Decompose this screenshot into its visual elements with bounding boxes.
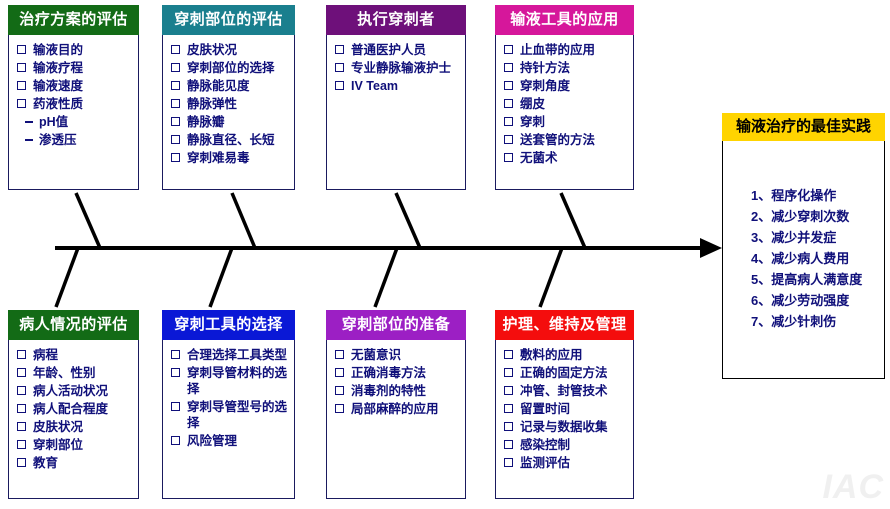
checkbox-icon bbox=[504, 350, 513, 359]
cause-item-label: 无菌术 bbox=[520, 151, 558, 165]
cause-item-label: 静脉直径、长短 bbox=[187, 133, 275, 147]
cause-box-header: 治疗方案的评估 bbox=[8, 5, 139, 35]
cause-box-body: 合理选择工具类型穿刺导管材料的选择穿刺导管型号的选择风险管理 bbox=[162, 340, 295, 499]
cause-item: 皮肤状况 bbox=[171, 42, 290, 58]
cause-item: 送套管的方法 bbox=[504, 132, 629, 148]
cause-item-label: 绷皮 bbox=[520, 97, 545, 111]
cause-box-treatment-plan-assessment[interactable]: 治疗方案的评估 输液目的输液疗程输液速度药液性质pH值渗透压 bbox=[8, 5, 139, 190]
cause-item: 病人配合程度 bbox=[17, 401, 134, 417]
cause-box-header: 护理、维持及管理 bbox=[495, 310, 634, 340]
checkbox-icon bbox=[171, 350, 180, 359]
cause-item: 穿刺难易毒 bbox=[171, 150, 290, 166]
cause-item-label: 静脉能见度 bbox=[187, 79, 250, 93]
effect-item: 1、程序化操作 bbox=[751, 185, 884, 206]
cause-item: 冲管、封管技术 bbox=[504, 383, 629, 399]
cause-item: 静脉瓣 bbox=[171, 114, 290, 130]
rib-bottom-2 bbox=[210, 248, 232, 307]
cause-item-label: IV Team bbox=[351, 79, 398, 93]
cause-item-list: 输液目的输液疗程输液速度药液性质pH值渗透压 bbox=[17, 42, 134, 148]
checkbox-icon bbox=[17, 81, 26, 90]
checkbox-icon bbox=[335, 404, 344, 413]
effect-item-list: 1、程序化操作2、减少穿刺次数3、减少并发症4、减少病人费用5、提高病人满意度6… bbox=[751, 185, 884, 332]
cause-box-infusion-tool-application[interactable]: 输液工具的应用 止血带的应用持针方法穿刺角度绷皮穿刺送套管的方法无菌术 bbox=[495, 5, 634, 190]
checkbox-icon bbox=[504, 81, 513, 90]
cause-item-label: 敷料的应用 bbox=[520, 348, 583, 362]
checkbox-icon bbox=[17, 45, 26, 54]
cause-item-label: 专业静脉输液护士 bbox=[351, 61, 451, 75]
checkbox-icon bbox=[171, 81, 180, 90]
cause-box-body: 普通医护人员专业静脉输液护士IV Team bbox=[326, 35, 466, 190]
cause-item-label: 病程 bbox=[33, 348, 58, 362]
effect-item: 3、减少并发症 bbox=[751, 227, 884, 248]
checkbox-icon bbox=[171, 135, 180, 144]
checkbox-icon bbox=[335, 386, 344, 395]
cause-item: 皮肤状况 bbox=[17, 419, 134, 435]
effect-item: 5、提高病人满意度 bbox=[751, 269, 884, 290]
cause-item: 病人活动状况 bbox=[17, 383, 134, 399]
cause-item-label: 输液速度 bbox=[33, 79, 83, 93]
cause-box-body: 病程年龄、性别病人活动状况病人配合程度皮肤状况穿刺部位教育 bbox=[8, 340, 139, 499]
spine-arrowhead bbox=[700, 238, 722, 258]
cause-box-header: 输液工具的应用 bbox=[495, 5, 634, 35]
cause-item-list: 皮肤状况穿刺部位的选择静脉能见度静脉弹性静脉瓣静脉直径、长短穿刺难易毒 bbox=[171, 42, 290, 166]
cause-item: 敷料的应用 bbox=[504, 347, 629, 363]
cause-item-label: 教育 bbox=[33, 456, 58, 470]
checkbox-icon bbox=[504, 153, 513, 162]
checkbox-icon bbox=[504, 99, 513, 108]
cause-item: 止血带的应用 bbox=[504, 42, 629, 58]
cause-item-label: 持针方法 bbox=[520, 61, 570, 75]
checkbox-icon bbox=[17, 422, 26, 431]
rib-top-2 bbox=[232, 193, 255, 248]
cause-item: 消毒剂的特性 bbox=[335, 383, 461, 399]
cause-item-list: 无菌意识正确消毒方法消毒剂的特性局部麻醉的应用 bbox=[335, 347, 461, 417]
cause-box-body: 皮肤状况穿刺部位的选择静脉能见度静脉弹性静脉瓣静脉直径、长短穿刺难易毒 bbox=[162, 35, 295, 190]
cause-item: 专业静脉输液护士 bbox=[335, 60, 461, 76]
cause-item-label: 穿刺导管材料的选择 bbox=[187, 366, 287, 396]
checkbox-icon bbox=[17, 404, 26, 413]
checkbox-icon bbox=[171, 436, 180, 445]
cause-item-label: 普通医护人员 bbox=[351, 43, 426, 57]
cause-item-label: pH值 bbox=[39, 115, 68, 129]
checkbox-icon bbox=[171, 99, 180, 108]
checkbox-icon bbox=[504, 458, 513, 467]
cause-item-label: 正确消毒方法 bbox=[351, 366, 426, 380]
checkbox-icon bbox=[171, 63, 180, 72]
cause-item: 穿刺导管型号的选择 bbox=[171, 399, 290, 431]
cause-item: 药液性质 bbox=[17, 96, 134, 112]
checkbox-icon bbox=[17, 368, 26, 377]
effect-item: 7、减少针刺伤 bbox=[751, 311, 884, 332]
cause-item-label: 穿刺角度 bbox=[520, 79, 570, 93]
effect-item: 6、减少劳动强度 bbox=[751, 290, 884, 311]
checkbox-icon bbox=[17, 99, 26, 108]
cause-item-label: 输液目的 bbox=[33, 43, 83, 57]
effect-item: 2、减少穿刺次数 bbox=[751, 206, 884, 227]
cause-item: 教育 bbox=[17, 455, 134, 471]
cause-item: 正确的固定方法 bbox=[504, 365, 629, 381]
cause-item: 绷皮 bbox=[504, 96, 629, 112]
cause-item-label: 消毒剂的特性 bbox=[351, 384, 426, 398]
cause-item-label: 穿刺 bbox=[520, 115, 545, 129]
cause-box-body: 无菌意识正确消毒方法消毒剂的特性局部麻醉的应用 bbox=[326, 340, 466, 499]
cause-item-label: 无菌意识 bbox=[351, 348, 401, 362]
cause-item-label: 穿刺导管型号的选择 bbox=[187, 400, 287, 430]
cause-box-puncture-operator[interactable]: 执行穿刺者 普通医护人员专业静脉输液护士IV Team bbox=[326, 5, 466, 190]
cause-item-label: 送套管的方法 bbox=[520, 133, 595, 147]
cause-box-body: 输液目的输液疗程输液速度药液性质pH值渗透压 bbox=[8, 35, 139, 190]
cause-box-puncture-site-assessment[interactable]: 穿刺部位的评估 皮肤状况穿刺部位的选择静脉能见度静脉弹性静脉瓣静脉直径、长短穿刺… bbox=[162, 5, 295, 190]
checkbox-icon bbox=[504, 63, 513, 72]
checkbox-icon bbox=[17, 458, 26, 467]
cause-item: 年龄、性别 bbox=[17, 365, 134, 381]
checkbox-icon bbox=[17, 63, 26, 72]
checkbox-icon bbox=[17, 350, 26, 359]
cause-item: 穿刺部位 bbox=[17, 437, 134, 453]
cause-item: 正确消毒方法 bbox=[335, 365, 461, 381]
checkbox-icon bbox=[335, 63, 344, 72]
checkbox-icon bbox=[504, 135, 513, 144]
cause-item: 感染控制 bbox=[504, 437, 629, 453]
rib-top-3 bbox=[396, 193, 420, 248]
cause-item: 输液疗程 bbox=[17, 60, 134, 76]
cause-item: 病程 bbox=[17, 347, 134, 363]
checkbox-icon bbox=[504, 45, 513, 54]
cause-item-label: 药液性质 bbox=[33, 97, 83, 111]
cause-item: IV Team bbox=[335, 78, 461, 94]
checkbox-icon bbox=[335, 368, 344, 377]
effect-box-body: 1、程序化操作2、减少穿刺次数3、减少并发症4、减少病人费用5、提高病人满意度6… bbox=[722, 141, 885, 379]
cause-item-label: 病人配合程度 bbox=[33, 402, 108, 416]
cause-item-label: 感染控制 bbox=[520, 438, 570, 452]
cause-item: 静脉直径、长短 bbox=[171, 132, 290, 148]
cause-item: 渗透压 bbox=[17, 132, 134, 148]
rib-top-4 bbox=[561, 193, 585, 248]
checkbox-icon bbox=[504, 440, 513, 449]
cause-item-label: 病人活动状况 bbox=[33, 384, 108, 398]
cause-item: 普通医护人员 bbox=[335, 42, 461, 58]
cause-item-label: 穿刺部位的选择 bbox=[187, 61, 275, 75]
cause-box-puncture-tool-selection[interactable]: 穿刺工具的选择 合理选择工具类型穿刺导管材料的选择穿刺导管型号的选择风险管理 bbox=[162, 310, 295, 499]
cause-box-header: 执行穿刺者 bbox=[326, 5, 466, 35]
cause-box-header: 病人情况的评估 bbox=[8, 310, 139, 340]
cause-item-label: 合理选择工具类型 bbox=[187, 348, 287, 362]
cause-box-body: 敷料的应用正确的固定方法冲管、封管技术留置时间记录与数据收集感染控制监测评估 bbox=[495, 340, 634, 499]
cause-item-label: 皮肤状况 bbox=[33, 420, 83, 434]
cause-item: 监测评估 bbox=[504, 455, 629, 471]
checkbox-icon bbox=[171, 368, 180, 377]
effect-item: 4、减少病人费用 bbox=[751, 248, 884, 269]
cause-item: 持针方法 bbox=[504, 60, 629, 76]
checkbox-icon bbox=[504, 422, 513, 431]
cause-item: 穿刺部位的选择 bbox=[171, 60, 290, 76]
rib-bottom-4 bbox=[540, 248, 562, 307]
cause-box-body: 止血带的应用持针方法穿刺角度绷皮穿刺送套管的方法无菌术 bbox=[495, 35, 634, 190]
cause-item-list: 止血带的应用持针方法穿刺角度绷皮穿刺送套管的方法无菌术 bbox=[504, 42, 629, 166]
checkbox-icon bbox=[335, 45, 344, 54]
dash-icon bbox=[25, 121, 33, 123]
checkbox-icon bbox=[504, 117, 513, 126]
cause-item-label: 渗透压 bbox=[39, 133, 77, 147]
dash-icon bbox=[25, 139, 33, 141]
cause-item: 无菌术 bbox=[504, 150, 629, 166]
cause-item-label: 输液疗程 bbox=[33, 61, 83, 75]
cause-item-label: 监测评估 bbox=[520, 456, 570, 470]
cause-item: pH值 bbox=[17, 114, 134, 130]
cause-item-label: 静脉瓣 bbox=[187, 115, 225, 129]
cause-item: 穿刺角度 bbox=[504, 78, 629, 94]
cause-box-header: 穿刺部位的评估 bbox=[162, 5, 295, 35]
cause-item-label: 局部麻醉的应用 bbox=[351, 402, 439, 416]
watermark: IAC bbox=[822, 468, 884, 507]
cause-item: 局部麻醉的应用 bbox=[335, 401, 461, 417]
cause-box-nursing-maintenance-management[interactable]: 护理、维持及管理 敷料的应用正确的固定方法冲管、封管技术留置时间记录与数据收集感… bbox=[495, 310, 634, 499]
checkbox-icon bbox=[17, 386, 26, 395]
checkbox-icon bbox=[504, 386, 513, 395]
rib-top-1 bbox=[76, 193, 100, 248]
cause-item-label: 正确的固定方法 bbox=[520, 366, 608, 380]
cause-item: 输液速度 bbox=[17, 78, 134, 94]
fishbone-diagram-canvas: 治疗方案的评估 输液目的输液疗程输液速度药液性质pH值渗透压 穿刺部位的评估 皮… bbox=[0, 0, 890, 509]
checkbox-icon bbox=[171, 153, 180, 162]
checkbox-icon bbox=[171, 117, 180, 126]
cause-box-header: 穿刺工具的选择 bbox=[162, 310, 295, 340]
rib-bottom-1 bbox=[56, 248, 78, 307]
effect-box-header: 输液治疗的最佳实践 bbox=[722, 113, 885, 141]
rib-bottom-3 bbox=[375, 248, 397, 307]
checkbox-icon bbox=[504, 404, 513, 413]
cause-item-label: 年龄、性别 bbox=[33, 366, 96, 380]
cause-item-label: 留置时间 bbox=[520, 402, 570, 416]
cause-item-label: 风险管理 bbox=[187, 434, 237, 448]
checkbox-icon bbox=[335, 81, 344, 90]
cause-item: 穿刺 bbox=[504, 114, 629, 130]
cause-box-puncture-site-preparation[interactable]: 穿刺部位的准备 无菌意识正确消毒方法消毒剂的特性局部麻醉的应用 bbox=[326, 310, 466, 499]
effect-box-best-practice[interactable]: 输液治疗的最佳实践 1、程序化操作2、减少穿刺次数3、减少并发症4、减少病人费用… bbox=[722, 113, 885, 379]
checkbox-icon bbox=[504, 368, 513, 377]
checkbox-icon bbox=[17, 440, 26, 449]
checkbox-icon bbox=[335, 350, 344, 359]
cause-item: 输液目的 bbox=[17, 42, 134, 58]
cause-box-patient-condition-assessment[interactable]: 病人情况的评估 病程年龄、性别病人活动状况病人配合程度皮肤状况穿刺部位教育 bbox=[8, 310, 139, 499]
cause-item-label: 静脉弹性 bbox=[187, 97, 237, 111]
cause-item: 静脉能见度 bbox=[171, 78, 290, 94]
cause-item-label: 冲管、封管技术 bbox=[520, 384, 608, 398]
cause-item: 穿刺导管材料的选择 bbox=[171, 365, 290, 397]
cause-item-label: 记录与数据收集 bbox=[520, 420, 608, 434]
cause-item-label: 皮肤状况 bbox=[187, 43, 237, 57]
cause-item-label: 穿刺难易毒 bbox=[187, 151, 250, 165]
cause-item: 无菌意识 bbox=[335, 347, 461, 363]
checkbox-icon bbox=[171, 45, 180, 54]
cause-item: 风险管理 bbox=[171, 433, 290, 449]
cause-item: 留置时间 bbox=[504, 401, 629, 417]
checkbox-icon bbox=[171, 402, 180, 411]
cause-item: 合理选择工具类型 bbox=[171, 347, 290, 363]
cause-item-list: 敷料的应用正确的固定方法冲管、封管技术留置时间记录与数据收集感染控制监测评估 bbox=[504, 347, 629, 471]
cause-item-list: 病程年龄、性别病人活动状况病人配合程度皮肤状况穿刺部位教育 bbox=[17, 347, 134, 471]
cause-item-list: 合理选择工具类型穿刺导管材料的选择穿刺导管型号的选择风险管理 bbox=[171, 347, 290, 449]
cause-box-header: 穿刺部位的准备 bbox=[326, 310, 466, 340]
cause-item-list: 普通医护人员专业静脉输液护士IV Team bbox=[335, 42, 461, 94]
cause-item-label: 穿刺部位 bbox=[33, 438, 83, 452]
cause-item: 静脉弹性 bbox=[171, 96, 290, 112]
cause-item-label: 止血带的应用 bbox=[520, 43, 595, 57]
cause-item: 记录与数据收集 bbox=[504, 419, 629, 435]
